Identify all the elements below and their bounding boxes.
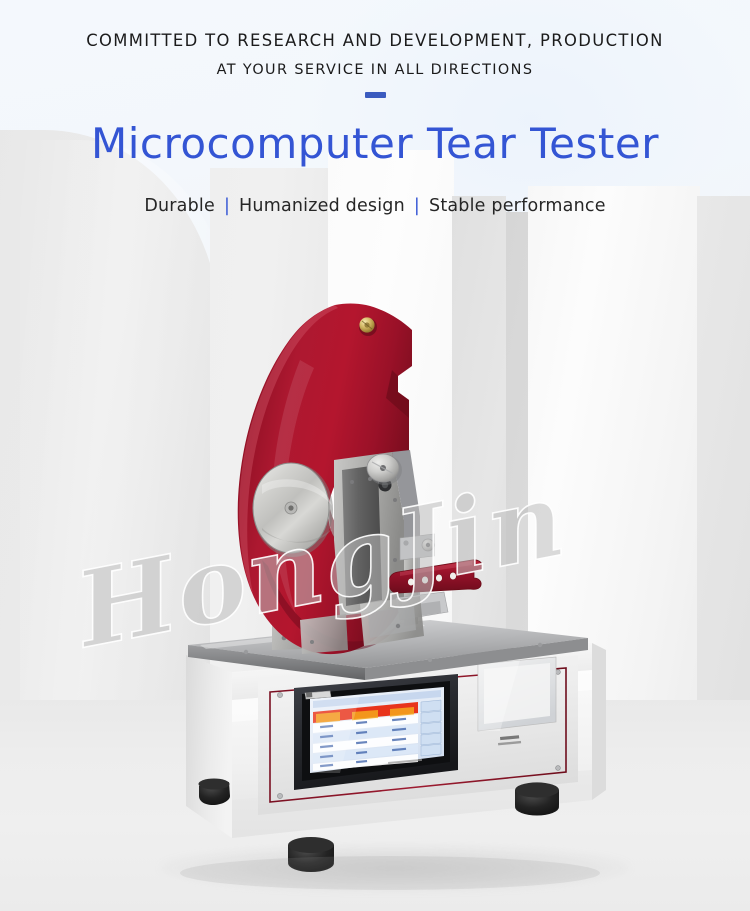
base-screw-3	[428, 658, 432, 662]
disc-hub-bolt	[288, 505, 293, 510]
mech-screw-3	[350, 583, 354, 587]
clamp-thumb-screw-center	[426, 543, 430, 547]
headline-line-1: COMMITTED TO RESEARCH AND DEVELOPMENT, P…	[0, 31, 750, 50]
feature-item-3: Stable performance	[429, 196, 606, 216]
pendulum-rest-block	[300, 614, 348, 654]
panel-screw-tl	[277, 692, 282, 697]
mechanism-inner-plate	[342, 465, 382, 606]
cabinet-left-face	[186, 655, 232, 838]
feature-item-2: Humanized design	[239, 196, 405, 216]
feature-separator-2: |	[414, 196, 420, 216]
screen-side-buttons[interactable]	[421, 700, 441, 756]
cabinet-right-face	[592, 643, 606, 800]
mech-screw-5	[393, 498, 397, 502]
mech-screw-4	[393, 558, 397, 562]
banner-header: COMMITTED TO RESEARCH AND DEVELOPMENT, P…	[0, 0, 750, 216]
feature-separator-1: |	[224, 196, 230, 216]
feature-item-1: Durable	[144, 196, 215, 216]
base-screw-1	[244, 650, 248, 654]
headline-line-2: AT YOUR SERVICE IN ALL DIRECTIONS	[0, 62, 750, 78]
product-title: Microcomputer Tear Tester	[0, 122, 750, 166]
aluminum-flywheel-disc	[253, 463, 333, 557]
foot-front-right-top	[515, 782, 559, 797]
feature-list: Durable|Humanized design|Stable performa…	[0, 196, 750, 216]
foot-rear-left-top	[199, 779, 230, 790]
panel-screw-bl	[277, 793, 282, 798]
panel-screw-br	[556, 766, 561, 771]
touchscreen[interactable]	[294, 674, 458, 790]
mech-screw-1	[350, 480, 354, 484]
base-screw-2	[538, 643, 542, 647]
rest-block-screw	[310, 640, 314, 644]
foot-front-left-top	[288, 837, 334, 853]
product-banner: COMMITTED TO RESEARCH AND DEVELOPMENT, P…	[0, 0, 750, 911]
bracket-screw	[396, 624, 400, 628]
divider-dash	[365, 92, 386, 98]
rest-block	[300, 614, 348, 654]
cabinet-contact-shadow	[180, 856, 600, 890]
clamp-pin	[403, 540, 408, 545]
